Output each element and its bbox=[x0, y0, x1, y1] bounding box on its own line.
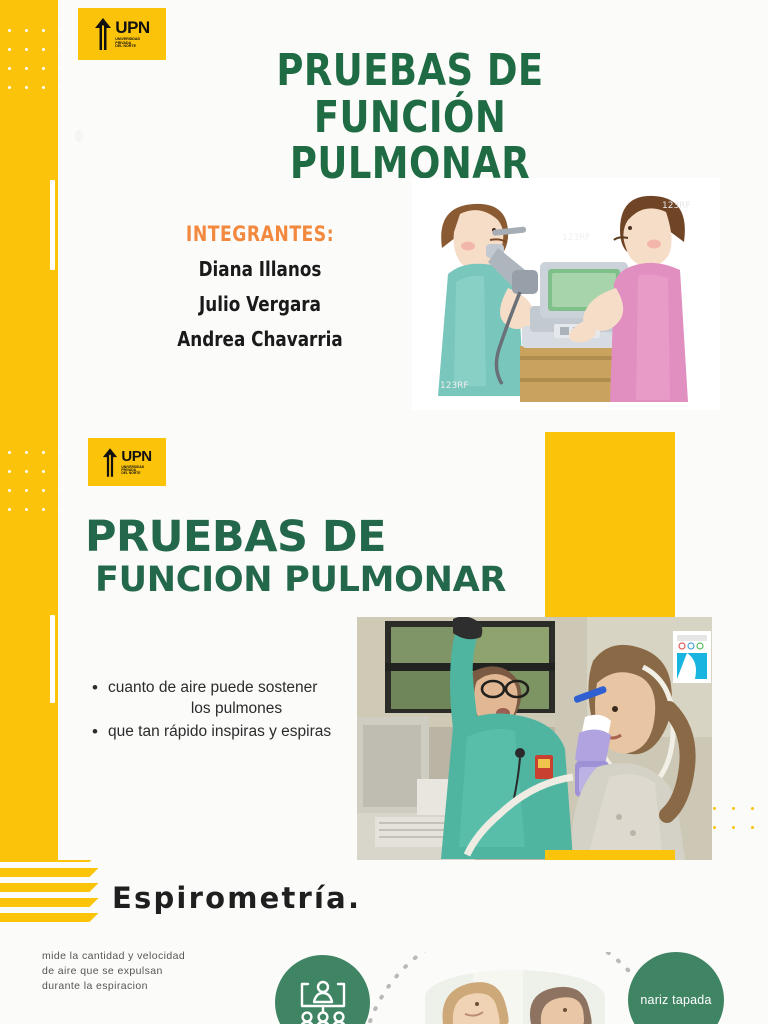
caption-line-3: durante la espiracion bbox=[42, 979, 242, 994]
up-arrow-icon bbox=[102, 448, 118, 477]
presentation-audience-icon bbox=[296, 976, 350, 1024]
bullet-text-2: que tan rápido inspiras y espiras bbox=[108, 723, 331, 740]
slide-2-bullet-list: cuanto de aire puede sostener los pulmon… bbox=[92, 678, 357, 745]
slide-3-title: Espirometría. bbox=[112, 881, 361, 915]
faint-mark bbox=[75, 130, 83, 142]
nariz-tapada-label: nariz tapada bbox=[640, 993, 711, 1007]
spirometry-photo bbox=[357, 617, 712, 860]
spirometry-illustration: 123RF 123RF 123RF bbox=[412, 178, 720, 410]
spirometry-photo-content bbox=[357, 617, 712, 860]
elderly-couple-photo bbox=[425, 970, 605, 1024]
member-name: Andrea Chavarria bbox=[168, 327, 353, 351]
yellow-accent-rectangle bbox=[545, 432, 675, 622]
members-heading: INTEGRANTES: bbox=[170, 222, 350, 246]
slide-2-title-line-2: FUNCION PULMONAR bbox=[95, 560, 506, 600]
upn-logo-slide-2: UPN UNIVERSIDAD PRIVADA DEL NORTE bbox=[88, 438, 166, 486]
bullet-text-1: cuanto de aire puede sostener bbox=[108, 679, 317, 696]
logo-wordmark: UPN bbox=[115, 19, 149, 36]
bullet-text-1-cont: los pulmones bbox=[108, 699, 357, 720]
slide-2-title-line-1: PRUEBAS DE bbox=[85, 512, 386, 562]
document-page: UPN UNIVERSIDAD PRIVADA DEL NORTE PRUEBA… bbox=[0, 0, 768, 1024]
member-name: Julio Vergara bbox=[168, 292, 353, 316]
elderly-couple-photo-content bbox=[425, 970, 605, 1024]
white-accent-bar-2 bbox=[50, 615, 55, 703]
caption-line-1: mide la cantidad y velocidad bbox=[42, 949, 242, 964]
svg-text:123RF: 123RF bbox=[440, 381, 469, 391]
slide-1-title: PRUEBAS DE FUNCIÓN PULMONAR bbox=[175, 48, 645, 188]
caption-line-2: de aire que se expulsan bbox=[42, 964, 242, 979]
up-arrow-icon bbox=[94, 18, 112, 50]
slide-1: UPN UNIVERSIDAD PRIVADA DEL NORTE PRUEBA… bbox=[0, 0, 768, 420]
dot-pattern-top-left bbox=[8, 18, 62, 94]
upn-logo: UPN UNIVERSIDAD PRIVADA DEL NORTE bbox=[78, 8, 166, 60]
slide-3-caption: mide la cantidad y velocidad de aire que… bbox=[42, 949, 242, 995]
logo-sub-line-3: DEL NORTE bbox=[121, 472, 151, 475]
svg-text:123RF: 123RF bbox=[662, 201, 691, 211]
members-block: INTEGRANTES: Diana Illanos Julio Vergara… bbox=[150, 222, 370, 351]
list-item: que tan rápido inspiras y espiras bbox=[92, 722, 357, 743]
spirometry-clipart: 123RF 123RF 123RF bbox=[412, 178, 720, 410]
slide-2: UPN UNIVERSIDAD PRIVADA DEL NORTE PRUEBA… bbox=[0, 420, 768, 860]
list-item: cuanto de aire puede sostener los pulmon… bbox=[92, 678, 357, 720]
logo-sub-line-3: DEL NORTE bbox=[115, 45, 149, 49]
slide-3: Espirometría. mide la cantidad y velocid… bbox=[0, 860, 768, 1024]
member-name: Diana Illanos bbox=[168, 257, 353, 281]
white-accent-bar-1 bbox=[50, 180, 55, 270]
svg-text:123RF: 123RF bbox=[562, 233, 591, 243]
yellow-accent-rectangle-bottom bbox=[545, 850, 675, 860]
slide-1-title-line-1: PRUEBAS DE FUNCIÓN bbox=[175, 48, 645, 141]
dot-pattern-mid-left bbox=[8, 440, 62, 516]
logo-wordmark: UPN bbox=[121, 449, 151, 464]
